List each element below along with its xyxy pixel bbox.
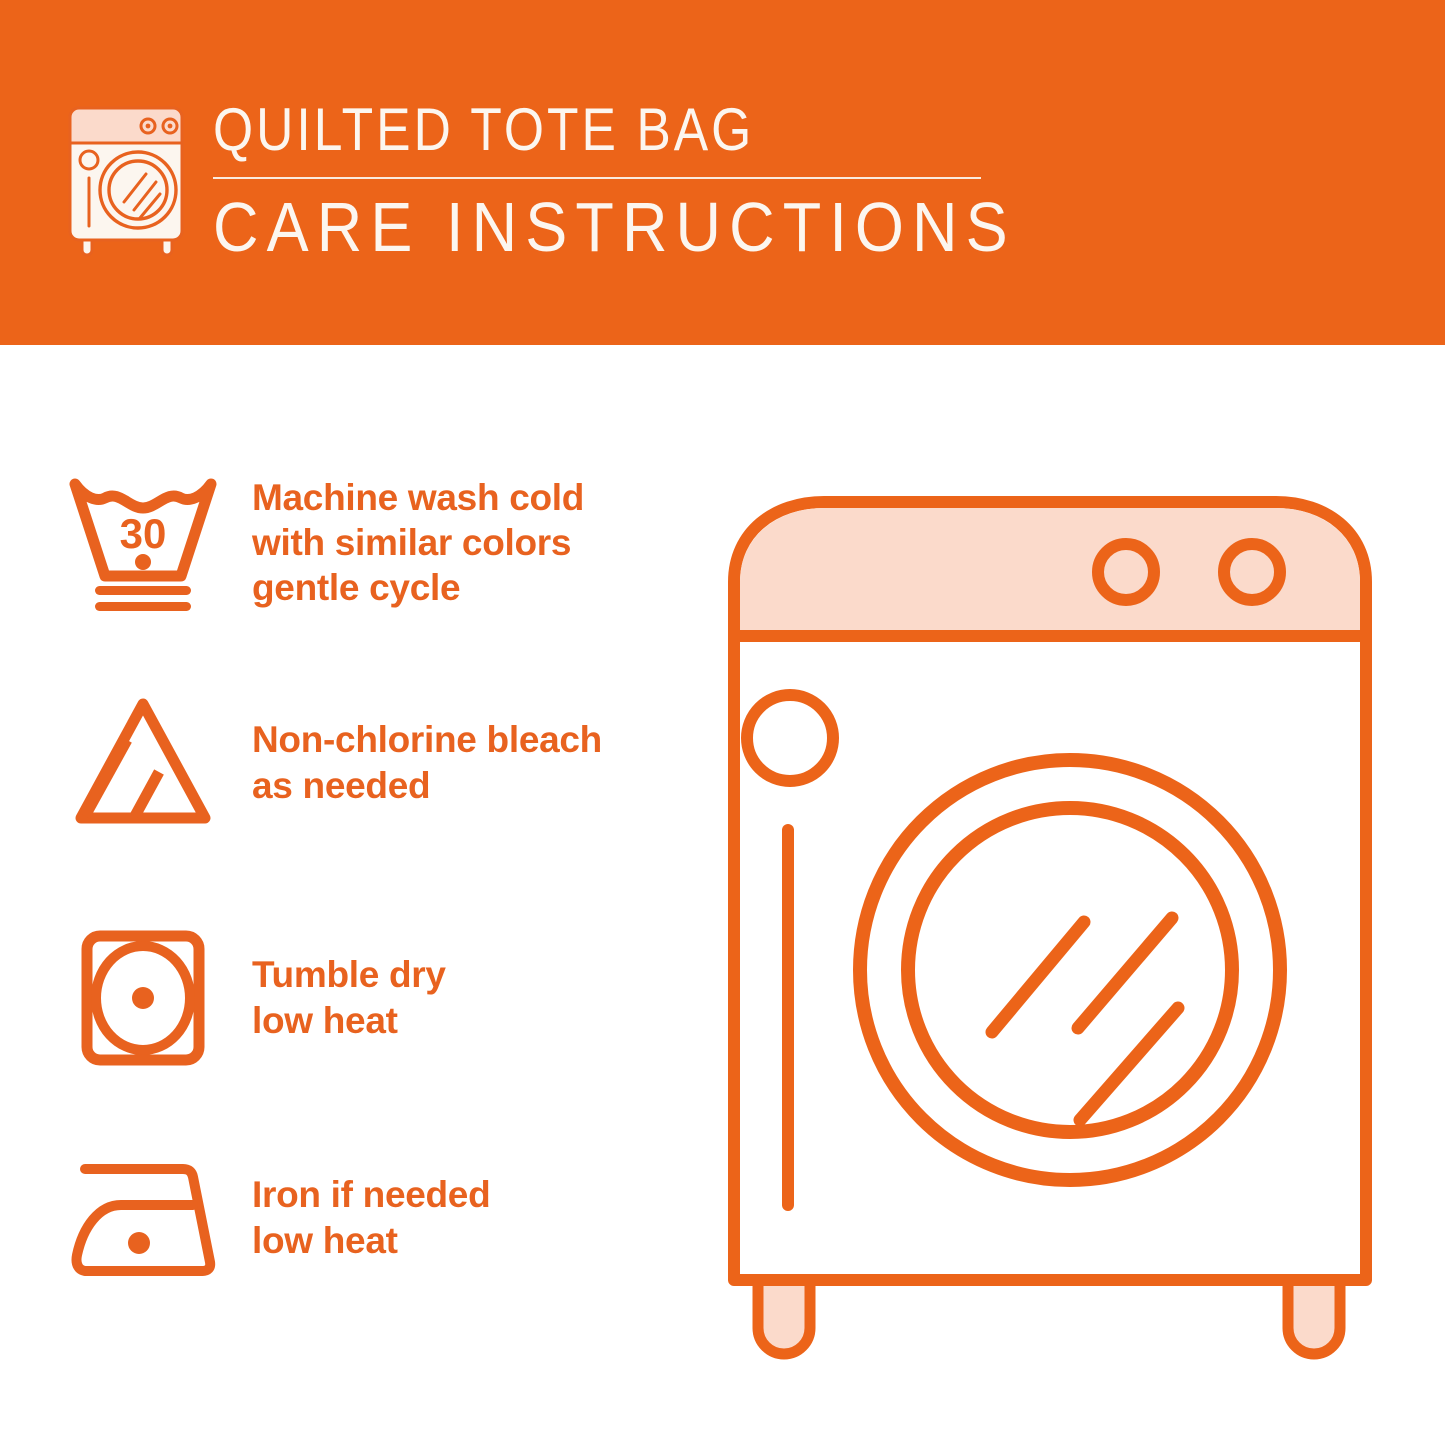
care-line-1: Tumble dry — [252, 952, 446, 997]
care-item-label: Machine wash cold with similar colors ge… — [252, 475, 584, 610]
header-text-block: QUILTED TOTE BAG CARE INSTRUCTIONS — [213, 100, 1003, 262]
care-line-3: gentle cycle — [252, 565, 584, 610]
care-item-bleach: Non-chlorine bleach as needed — [0, 675, 700, 850]
care-instructions-page: QUILTED TOTE BAG CARE INSTRUCTIONS 30 — [0, 0, 1445, 1445]
wash-tub-30-gentle-icon: 30 — [55, 455, 230, 630]
care-line-2: low heat — [252, 998, 446, 1043]
care-item-label: Non-chlorine bleach as needed — [252, 717, 602, 807]
care-instruction-list: 30 Machine wash cold with similar colors… — [0, 345, 700, 1445]
care-line-2: with similar colors — [252, 520, 584, 565]
care-item-iron: Iron if needed low heat — [0, 1130, 700, 1305]
washing-machine-icon — [62, 98, 194, 258]
page-subtitle: CARE INSTRUCTIONS — [213, 192, 924, 262]
care-line-1: Non-chlorine bleach — [252, 717, 602, 762]
care-item-label: Tumble dry low heat — [252, 952, 446, 1042]
care-line-2: low heat — [252, 1218, 490, 1263]
header-banner: QUILTED TOTE BAG CARE INSTRUCTIONS — [0, 0, 1445, 345]
front-load-washing-machine-illustration — [700, 460, 1420, 1380]
care-item-machine-wash: 30 Machine wash cold with similar colors… — [0, 455, 700, 630]
page-title: QUILTED TOTE BAG — [213, 100, 892, 160]
care-item-tumble-dry: Tumble dry low heat — [0, 910, 700, 1085]
care-item-label: Iron if needed low heat — [252, 1172, 490, 1262]
wash-temperature-label: 30 — [119, 510, 166, 557]
care-line-1: Machine wash cold — [252, 475, 584, 520]
care-line-1: Iron if needed — [252, 1172, 490, 1217]
non-chlorine-bleach-triangle-icon — [55, 675, 230, 850]
tumble-dry-low-icon — [55, 910, 230, 1085]
care-line-2: as needed — [252, 763, 602, 808]
title-divider — [213, 177, 981, 179]
iron-low-heat-icon — [55, 1130, 230, 1305]
